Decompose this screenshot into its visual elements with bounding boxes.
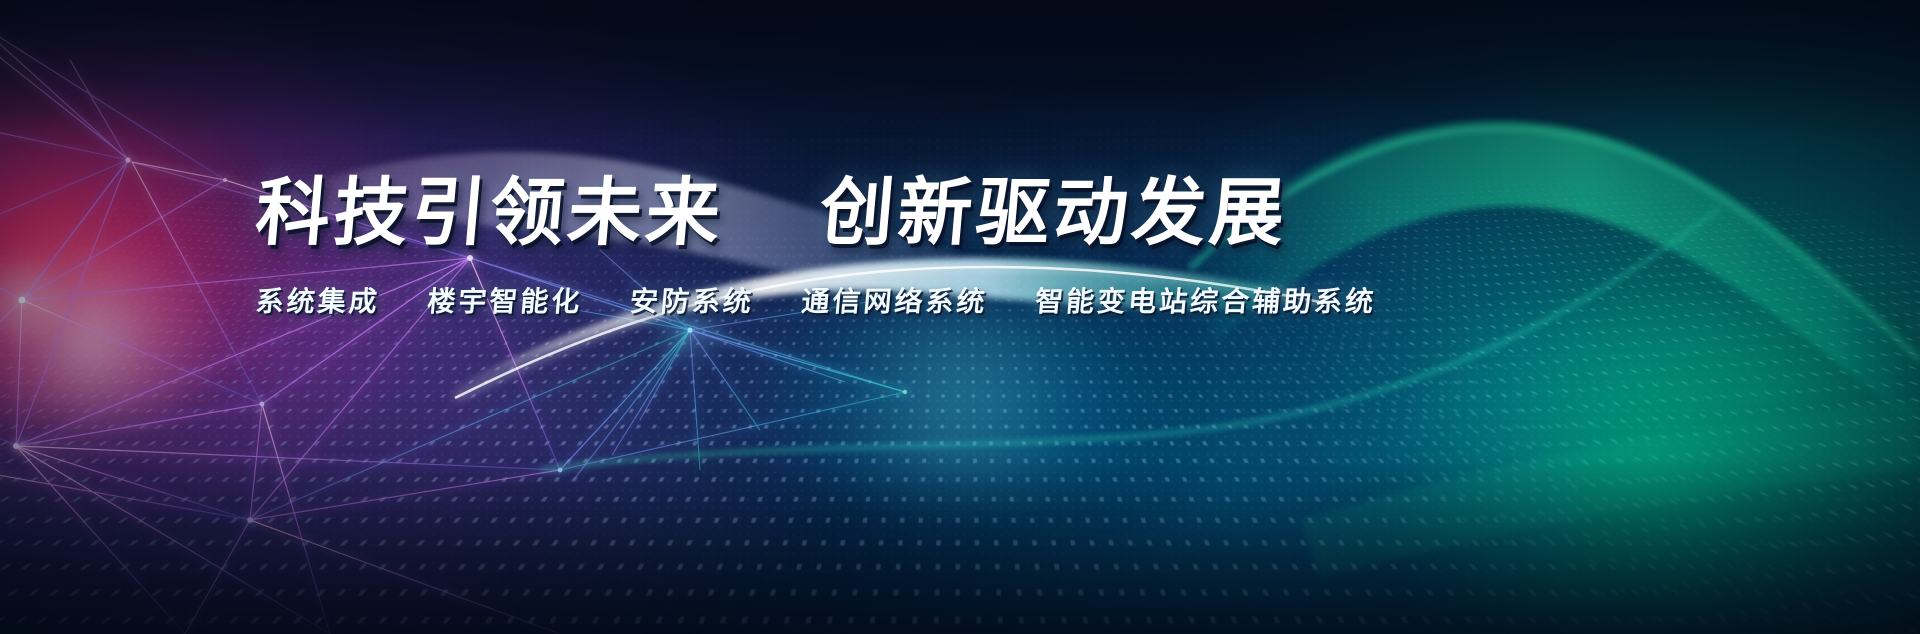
subline-item-3: 通信网络系统 xyxy=(800,286,989,317)
green-wave-band-lower xyxy=(1300,400,1920,578)
headline-part-2: 创新驱动发展 xyxy=(817,176,1291,250)
glow-magenta-left xyxy=(0,120,270,420)
glow-white-left xyxy=(0,250,240,430)
glow-green-right xyxy=(1340,300,1920,630)
banner-text-block: 科技引领未来 创新驱动发展 系统集成 楼宇智能化 安防系统 通信网络系统 智能变… xyxy=(256,176,1656,320)
wireframe-network-left xyxy=(0,8,560,634)
banner-subline: 系统集成 楼宇智能化 安防系统 通信网络系统 智能变电站综合辅助系统 xyxy=(254,280,1657,320)
banner-headline: 科技引领未来 创新驱动发展 xyxy=(253,176,1659,250)
subline-item-2: 安防系统 xyxy=(629,286,756,317)
tech-banner: 科技引领未来 创新驱动发展 系统集成 楼宇智能化 安防系统 通信网络系统 智能变… xyxy=(0,0,1920,634)
subline-item-4: 智能变电站综合辅助系统 xyxy=(1034,286,1378,317)
headline-part-1: 科技引领未来 xyxy=(253,176,727,250)
subline-item-1: 楼宇智能化 xyxy=(426,286,584,317)
glow-cyan-center xyxy=(700,300,1220,500)
subline-item-0: 系统集成 xyxy=(255,286,382,317)
